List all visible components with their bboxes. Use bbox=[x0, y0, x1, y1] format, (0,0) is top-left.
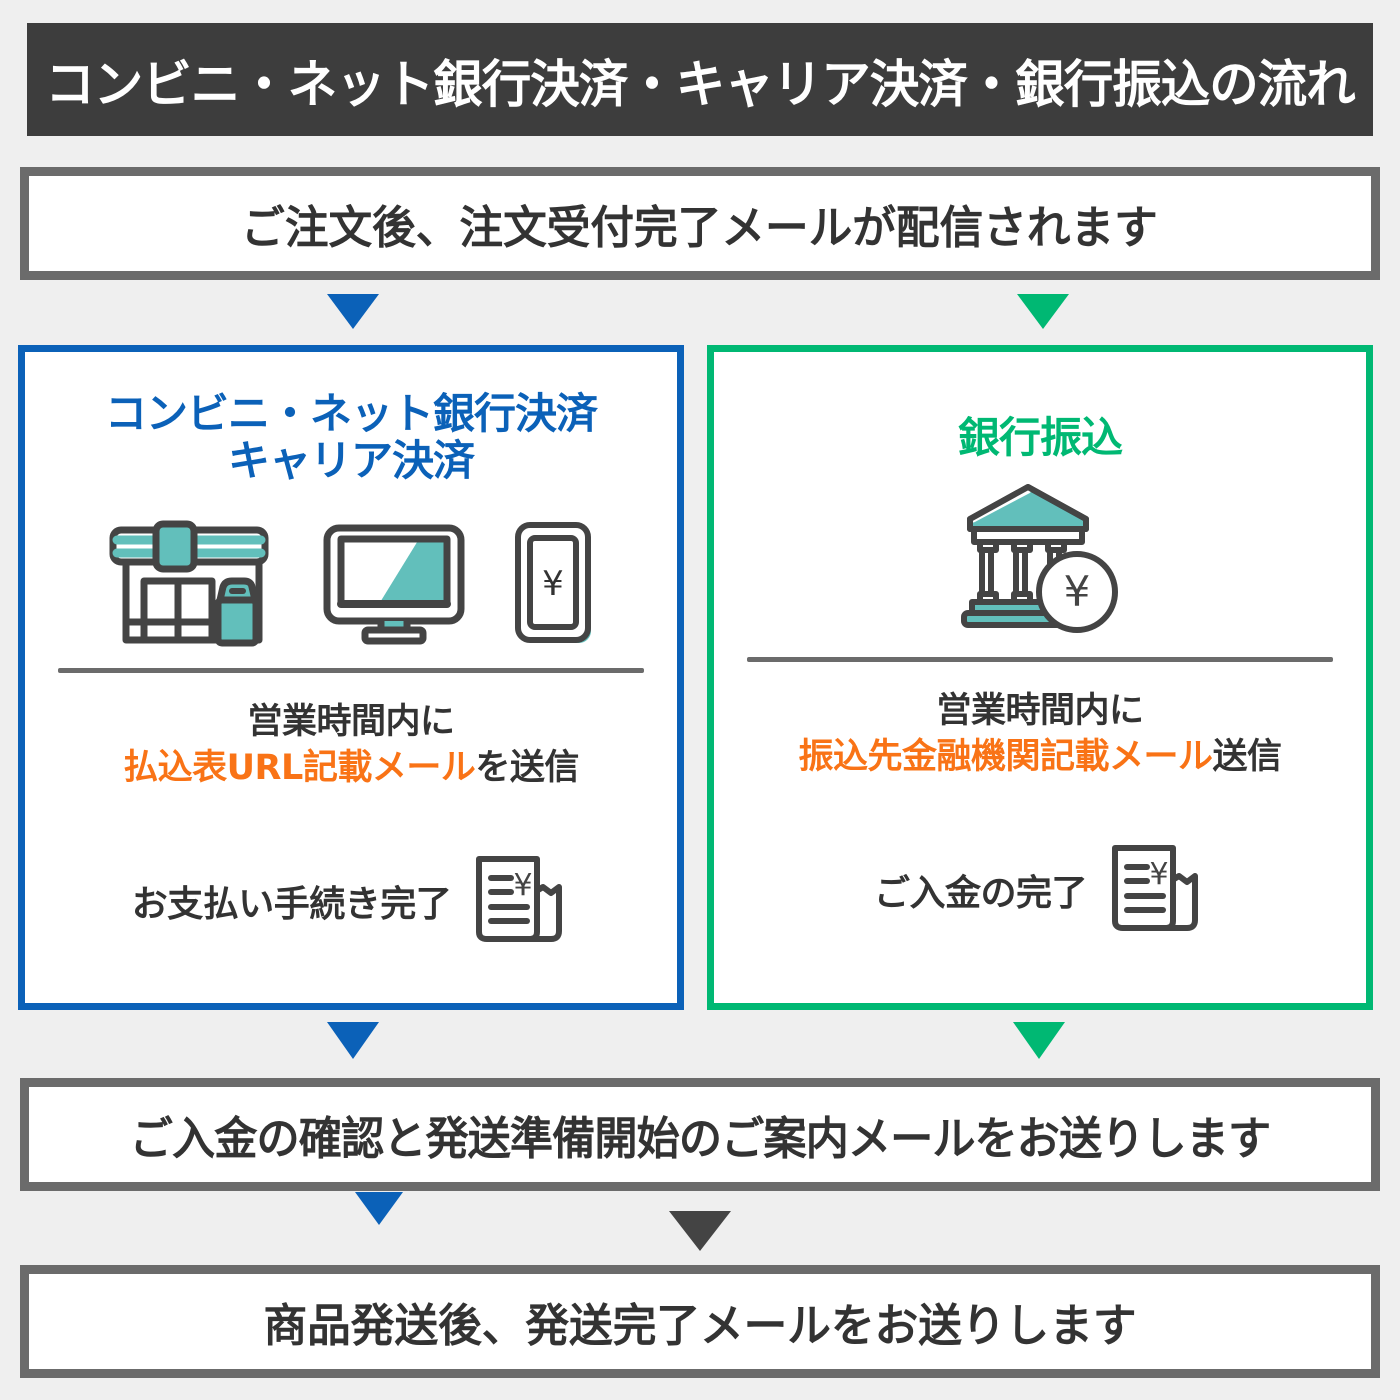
panel-conveni-icon-row: ¥ bbox=[25, 502, 677, 652]
panel-bank-icon-row: ¥ bbox=[714, 491, 1366, 641]
panel-bank-transfer: 銀行振込 bbox=[707, 345, 1373, 1010]
svg-text:¥: ¥ bbox=[1064, 567, 1091, 616]
svg-text:¥: ¥ bbox=[514, 868, 533, 903]
panel-conveni-footer-text: お支払い手続き完了 bbox=[132, 875, 452, 927]
svg-text:¥: ¥ bbox=[542, 564, 564, 604]
down-arrow-green-to-confirm bbox=[1013, 1022, 1065, 1059]
flow-diagram: コンビニ・ネット銀行決済・キャリア決済・銀行振込の流れ ご注文後、注文受付完了メ… bbox=[0, 0, 1400, 1400]
panel-bank-heading: 銀行振込 bbox=[714, 414, 1366, 461]
panel-conveni-note-tail: を送信 bbox=[475, 748, 579, 788]
down-arrow-green-to-bank bbox=[1017, 294, 1069, 329]
step-order-text: ご注文後、注文受付完了メールが配信されます bbox=[242, 191, 1159, 256]
step-box-shipping-complete: 商品発送後、発送完了メールをお送りします bbox=[20, 1265, 1380, 1378]
down-arrow-blue-to-confirm bbox=[327, 1022, 379, 1059]
down-arrow-dark-to-shipped bbox=[669, 1211, 731, 1251]
down-arrow-blue-to-conveni bbox=[327, 294, 379, 329]
panel-bank-heading-line1: 銀行振込 bbox=[714, 414, 1366, 461]
panel-conveni-heading: コンビニ・ネット銀行決済 キャリア決済 bbox=[25, 390, 677, 484]
step-box-order-received: ご注文後、注文受付完了メールが配信されます bbox=[20, 167, 1380, 280]
panel-conveni-note-highlight: 払込表URL記載メール bbox=[123, 748, 475, 788]
smartphone-yen-icon: ¥ bbox=[509, 518, 604, 652]
panel-bank-note-tail: 送信 bbox=[1213, 737, 1282, 777]
header-banner: コンビニ・ネット銀行決済・キャリア決済・銀行振込の流れ bbox=[27, 23, 1373, 136]
panel-conveni-heading-line2: キャリア決済 bbox=[25, 437, 677, 484]
step-box-payment-confirmed: ご入金の確認と発送準備開始のご案内メールをお送りします bbox=[20, 1078, 1380, 1191]
down-arrow-blue-inner bbox=[355, 1192, 403, 1225]
panel-conveni-footer: お支払い手続き完了 ¥ bbox=[25, 849, 677, 953]
panel-conveni-note-line1: 営業時間内に bbox=[25, 699, 677, 745]
panel-bank-divider bbox=[747, 657, 1333, 662]
panel-conveni-note: 営業時間内に 払込表URL記載メールを送信 bbox=[25, 699, 677, 791]
panel-bank-note-highlight: 振込先金融機関記載メール bbox=[798, 737, 1212, 777]
panel-bank-note-line1: 営業時間内に bbox=[714, 688, 1366, 734]
convenience-store-icon bbox=[99, 518, 279, 652]
panel-bank-note: 営業時間内に 振込先金融機関記載メール送信 bbox=[714, 688, 1366, 780]
page-title: コンビニ・ネット銀行決済・キャリア決済・銀行振込の流れ bbox=[45, 43, 1355, 117]
bank-building-yen-icon: ¥ bbox=[950, 482, 1130, 641]
panel-bank-note-line2: 振込先金融機関記載メール送信 bbox=[714, 734, 1366, 780]
step-shipped-text: 商品発送後、発送完了メールをお送りします bbox=[263, 1289, 1136, 1354]
panel-conveni-divider bbox=[58, 668, 644, 673]
receipt-yen-icon: ¥ bbox=[1101, 838, 1206, 942]
receipt-yen-icon: ¥ bbox=[465, 849, 570, 953]
step-confirm-text: ご入金の確認と発送準備開始のご案内メールをお送りします bbox=[130, 1102, 1270, 1167]
panel-bank-footer: ご入金の完了 ¥ bbox=[714, 838, 1366, 942]
panel-conveni-note-line2: 払込表URL記載メールを送信 bbox=[25, 745, 677, 791]
panel-bank-footer-text: ご入金の完了 bbox=[874, 864, 1087, 916]
svg-text:¥: ¥ bbox=[1149, 857, 1168, 892]
panel-conveni-heading-line1: コンビニ・ネット銀行決済 bbox=[25, 390, 677, 437]
panel-convenience-payment: コンビニ・ネット銀行決済 キャリア決済 bbox=[18, 345, 684, 1010]
desktop-monitor-icon bbox=[319, 518, 469, 652]
